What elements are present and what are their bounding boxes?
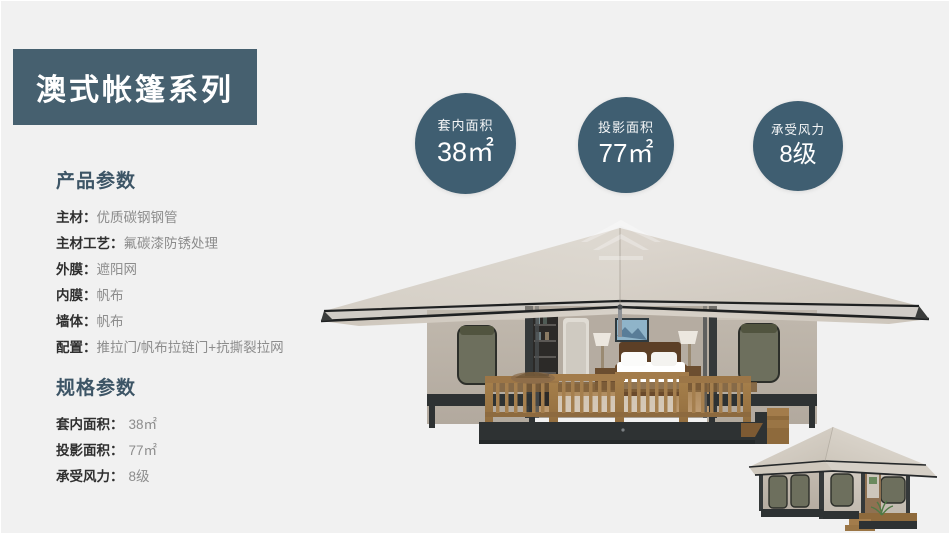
spec-row: 内膜：帆布 [56, 283, 284, 309]
spec-label: 套内面积： [56, 417, 124, 432]
spec-label: 主材工艺： [56, 236, 124, 251]
spec-row: 投影面积：77㎡ [56, 438, 157, 464]
stat-label: 套内面积 [437, 119, 493, 133]
spec-label: 配置： [56, 340, 97, 355]
spec-section-size: 规格参数 套内面积：38㎡ 投影面积：77㎡ 承受风力：8级 [56, 373, 157, 490]
spec-row: 主材工艺：氟碳漆防锈处理 [56, 231, 284, 257]
spec-label: 外膜： [56, 262, 97, 277]
spec-value: 遮阳网 [97, 262, 138, 277]
spec-value: 氟碳漆防锈处理 [124, 236, 219, 251]
slide-canvas: 澳式帐篷系列 产品参数 主材：优质碳钢钢管 主材工艺：氟碳漆防锈处理 外膜：遮阳… [0, 0, 950, 534]
spec-section-heading: 产品参数 [56, 166, 284, 193]
stat-circle-wind-resistance: 承受风力 8级 [753, 101, 843, 191]
title-banner: 澳式帐篷系列 [13, 49, 257, 125]
main-tent-image [319, 206, 941, 451]
spec-row: 套内面积：38㎡ [56, 412, 157, 438]
spec-value: 8级 [124, 469, 150, 484]
stat-circle-interior-area: 套内面积 38㎡ [415, 93, 516, 194]
stat-label: 承受风力 [771, 124, 825, 138]
spec-value: 推拉门/帆布拉链门+抗撕裂拉网 [97, 340, 284, 355]
spec-label: 承受风力： [56, 469, 124, 484]
page-title: 澳式帐篷系列 [36, 65, 234, 109]
spec-label: 内膜： [56, 288, 97, 303]
spec-row: 承受风力：8级 [56, 464, 157, 490]
stat-value: 77㎡ [599, 139, 654, 169]
spec-label: 主材： [56, 210, 97, 225]
stat-value: 38㎡ [437, 137, 494, 168]
stat-circle-projected-area: 投影面积 77㎡ [578, 97, 674, 193]
spec-row: 墙体：帆布 [56, 309, 284, 335]
stat-label: 投影面积 [598, 121, 654, 135]
spec-label: 投影面积： [56, 443, 124, 458]
spec-value: 帆布 [97, 288, 124, 303]
spec-value: 优质碳钢钢管 [97, 210, 178, 225]
spec-value: 77㎡ [124, 443, 158, 458]
spec-section-product: 产品参数 主材：优质碳钢钢管 主材工艺：氟碳漆防锈处理 外膜：遮阳网 内膜：帆布… [56, 166, 284, 361]
spec-row: 主材：优质碳钢钢管 [56, 205, 284, 231]
inset-tent-image [741, 419, 946, 534]
spec-row: 外膜：遮阳网 [56, 257, 284, 283]
spec-value: 帆布 [97, 314, 124, 329]
spec-label: 墙体： [56, 314, 97, 329]
spec-row: 配置：推拉门/帆布拉链门+抗撕裂拉网 [56, 335, 284, 361]
spec-value: 38㎡ [124, 417, 158, 432]
spec-section-heading: 规格参数 [56, 373, 157, 400]
stat-value: 8级 [779, 141, 816, 169]
